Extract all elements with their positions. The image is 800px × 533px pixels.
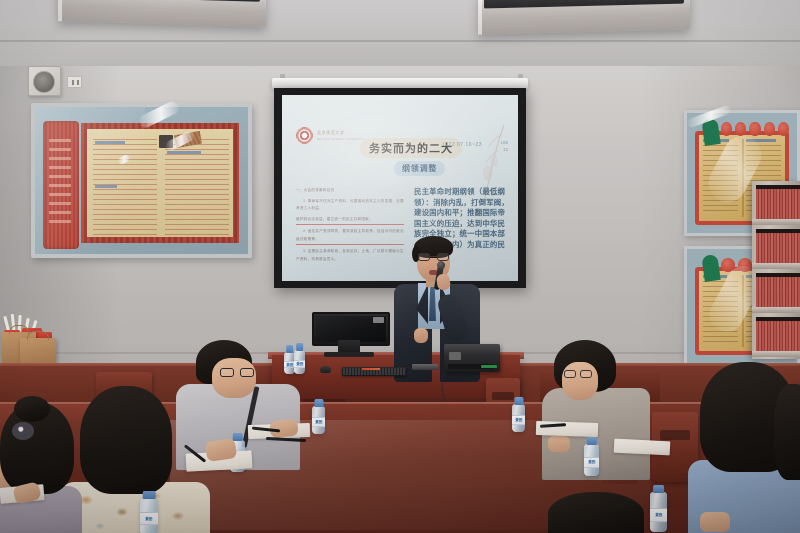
attendee-blue-shirt-right (690, 362, 800, 533)
presenter-glasses-icon (418, 253, 449, 261)
attendee-partial-foreground (548, 492, 644, 533)
left-notice-board (31, 103, 252, 258)
attendee-5-hair-side (774, 384, 800, 480)
water-bottle-1: 景田 (140, 498, 158, 533)
attendee-6-hair (548, 492, 644, 533)
computer-keyboard (342, 367, 406, 376)
monitor-badge (373, 317, 384, 323)
power-outlet-icon (67, 76, 82, 88)
attendee-3-glasses-icon (220, 368, 254, 377)
books-row-4 (756, 321, 800, 351)
shelf-divider-4 (752, 351, 800, 357)
slide-left-line-1: 1. 革命军不仅对生产资料，也要推动资本主义的发展，还要考虑工人利益， (296, 198, 404, 213)
bag-handle-2 (27, 331, 49, 340)
water-bottle-4: 景田 (512, 404, 525, 432)
branch-decoration-icon (474, 123, 514, 203)
scroll-heading-c (167, 151, 201, 154)
ceiling-seam (0, 40, 800, 42)
ribbon-icon-bottom (701, 254, 720, 282)
slide-left-line-2: 维护其合法权益，建立统一的民主共和国家。 (296, 216, 404, 226)
book-heading-b (746, 139, 775, 142)
notebook-3 (536, 421, 598, 437)
ceiling-light-right-icon (478, 0, 690, 35)
shelf-row-1 (756, 185, 800, 219)
water-bottle-6: 景田 (650, 492, 667, 532)
wall-speaker-icon (28, 66, 61, 96)
attendee-5-hand (700, 512, 730, 532)
attendee-4-face (562, 362, 598, 400)
shelf-row-4 (756, 317, 800, 351)
slide-title: 务实而为的二大 (369, 140, 453, 156)
books-row-3 (756, 277, 800, 307)
university-emblem-icon (296, 127, 313, 144)
printer-indicator-strip (481, 365, 497, 368)
university-name-en: BEIJING NORMAL UNIVERSITY (317, 138, 365, 141)
slide-subtitle-pill: 纲领调整 (394, 161, 445, 176)
notebook-4 (614, 439, 671, 456)
attendee-gray-blazer-woman (540, 340, 660, 482)
bag-handle-1 (9, 325, 29, 334)
speaker-grille (33, 71, 55, 93)
shelf-divider-3 (752, 307, 800, 313)
water-bottle-3: 景田 (312, 406, 325, 434)
attendee-4-glasses-icon (564, 370, 592, 378)
keyboard-leds (362, 368, 380, 370)
slide-university-branding: 北京师范大学 BEIJING NORMAL UNIVERSITY (296, 127, 365, 144)
books-row-2 (756, 233, 800, 263)
presenter-left-hand (414, 328, 428, 343)
books-row-1 (756, 189, 800, 219)
seal-stamp-icon (159, 135, 173, 148)
attendee-1-hair-bun (14, 396, 50, 422)
board-glass-sheen (31, 103, 145, 258)
printer-control-panel (449, 352, 461, 360)
hair-scrunchie-icon (12, 422, 34, 440)
computer-mouse (320, 366, 331, 373)
shelf-row-2 (756, 229, 800, 263)
book-text-column-a (703, 145, 737, 213)
bookshelf (752, 181, 800, 359)
monitor-base (324, 352, 374, 357)
university-name-block: 北京师范大学 BEIJING NORMAL UNIVERSITY (317, 130, 365, 141)
classroom-photo: 北京师范大学 BEIJING NORMAL UNIVERSITY 务实而为的二大… (0, 0, 800, 533)
printer (444, 344, 500, 372)
shelf-divider-2 (752, 263, 800, 269)
medal-row-top (721, 121, 789, 137)
slide-left-line-0: 一、大会的背景和目的 (296, 187, 404, 195)
slide-subtitle: 纲领调整 (402, 163, 437, 174)
slide-title-pill: 务实而为的二大 (360, 138, 462, 158)
book-text-column-c (703, 281, 737, 343)
ribbon-icon-top (701, 118, 720, 146)
attendee-front-left (0, 398, 108, 533)
attendee-4-hand (548, 436, 570, 452)
shelf-row-3 (756, 273, 800, 307)
shelf-divider-1 (752, 219, 800, 225)
water-bottle-5: 景田 (584, 444, 599, 476)
university-name-cn: 北京师范大学 (317, 130, 365, 136)
desk-device (412, 364, 438, 370)
